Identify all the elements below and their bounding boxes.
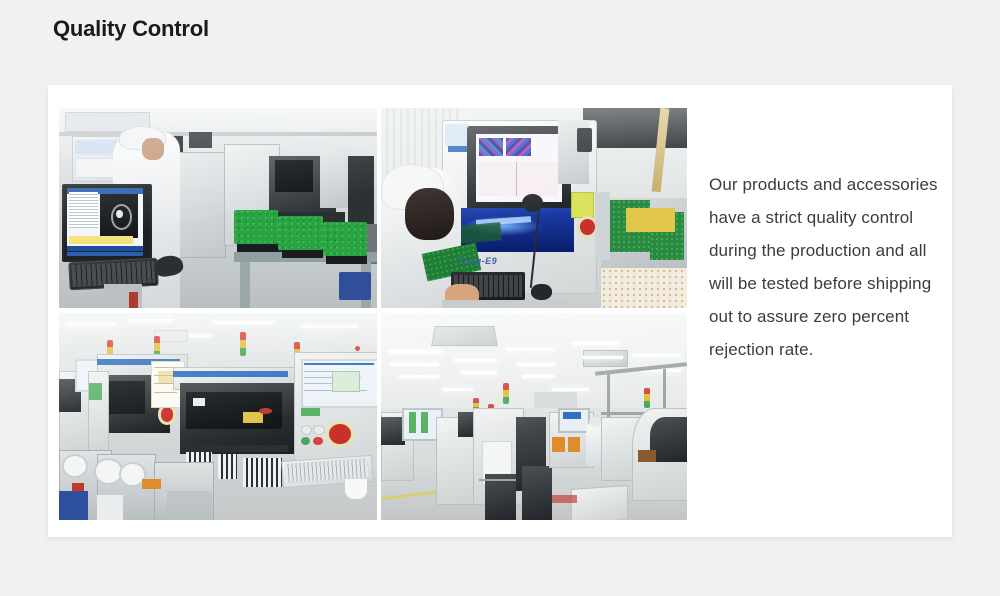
photo-factory-floor <box>381 313 687 520</box>
card-inner: Yong-E9 <box>59 108 941 520</box>
content-card: Yong-E9 <box>48 85 952 537</box>
photo-gallery: Yong-E9 <box>59 108 687 520</box>
quality-control-caption: Our products and accessories have a stri… <box>709 108 941 520</box>
photo-inspection-workstation <box>59 108 377 308</box>
aoi-machine-label: Yong-E9 <box>458 256 498 266</box>
photo-aoi-machine: Yong-E9 <box>381 108 687 308</box>
photo-smt-line <box>59 313 377 520</box>
page-title: Quality Control <box>53 16 209 42</box>
